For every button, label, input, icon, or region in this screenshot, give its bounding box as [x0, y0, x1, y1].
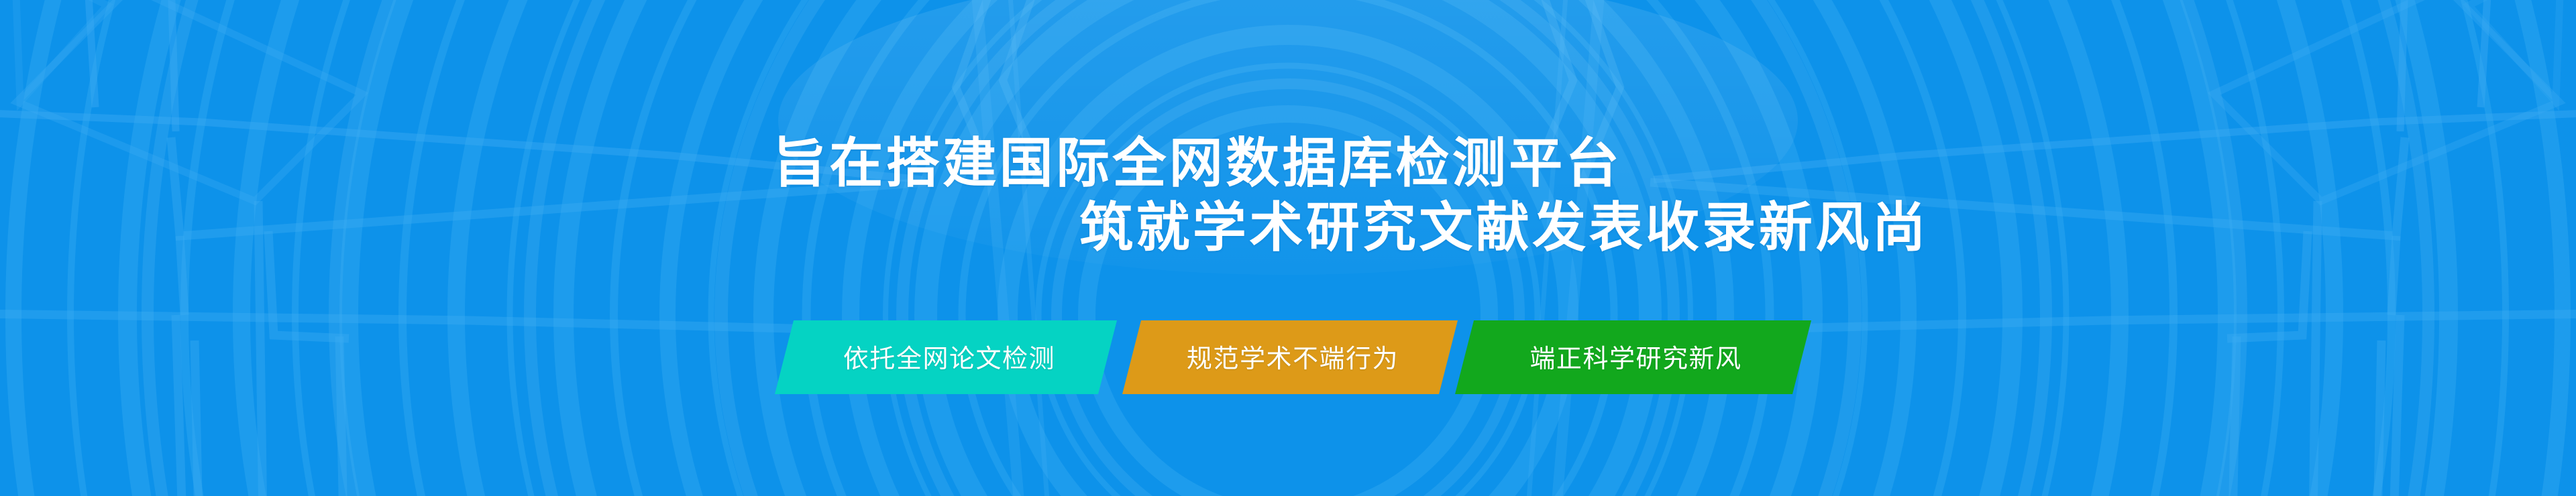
feature-tag-academic-misconduct[interactable]: 规范学术不端行为: [1122, 320, 1458, 394]
banner-content: 旨在搭建国际全网数据库检测平台 筑就学术研究文献发表收录新风尚 依托全网论文检测…: [0, 0, 2576, 496]
headline-line-2: 筑就学术研究文献发表收录新风尚: [1079, 198, 1929, 257]
feature-tag-label: 依托全网论文检测: [837, 338, 1055, 375]
headline-line-1: 旨在搭建国际全网数据库检测平台: [773, 134, 1622, 193]
promo-banner: 旨在搭建国际全网数据库检测平台 筑就学术研究文献发表收录新风尚 依托全网论文检测…: [0, 0, 2576, 496]
feature-tag-paper-detection[interactable]: 依托全网论文检测: [775, 320, 1117, 394]
feature-tag-group: 依托全网论文检测 规范学术不端行为 端正科学研究新风: [775, 320, 1811, 394]
feature-tag-label: 端正科学研究新风: [1524, 338, 1741, 375]
feature-tag-label: 规范学术不端行为: [1181, 338, 1399, 375]
feature-tag-research-ethos[interactable]: 端正科学研究新风: [1455, 320, 1811, 394]
